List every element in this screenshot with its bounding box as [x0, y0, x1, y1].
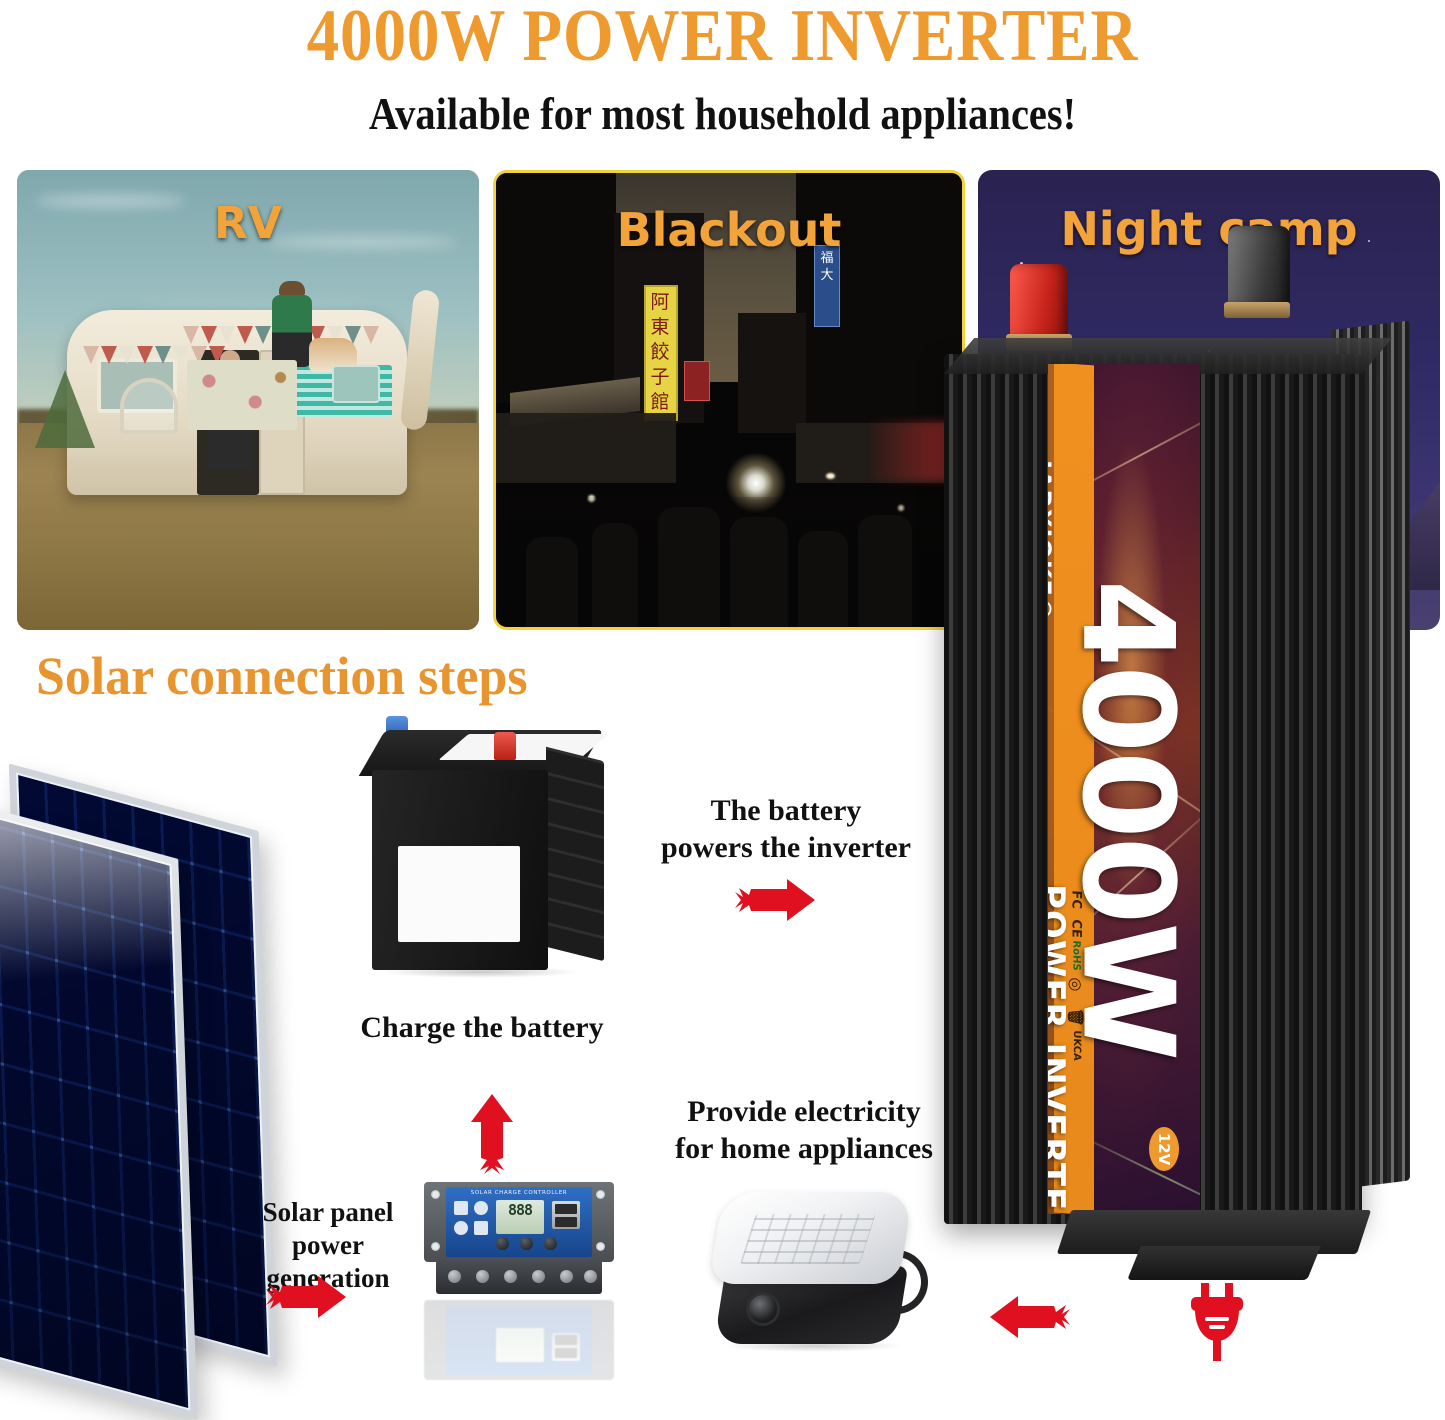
caption-provide-electricity: Provide electricityfor home appliances — [664, 1094, 944, 1167]
product-type-text: POWER INVERTER — [1048, 884, 1072, 1214]
person-silhouette — [858, 515, 912, 627]
shop-sign-yellow: 阿東餃子館 — [644, 285, 678, 421]
market-stall — [496, 413, 676, 483]
battery-label — [398, 846, 520, 942]
solar-status-icon — [474, 1201, 488, 1215]
controller-mount-plate: SOLAR CHARGE CONTROLLER 888 — [424, 1182, 614, 1262]
lock-icon — [474, 1221, 488, 1235]
photo-label-night-camp: Night camp — [978, 202, 1440, 256]
terminal-screw — [504, 1270, 517, 1283]
light-spark — [826, 473, 835, 479]
arrow-controller-to-battery — [466, 1090, 518, 1182]
solar-panels-group — [0, 800, 288, 1400]
photo-card-rv: RV — [17, 170, 479, 630]
mount-hole — [596, 1242, 605, 1251]
caption-battery-powers-inverter: The batterypowers the inverter — [646, 793, 926, 866]
cooker-lid — [709, 1192, 914, 1284]
section-title-solar-steps: Solar connection steps — [36, 645, 528, 707]
battery-shadow — [380, 966, 580, 978]
terminal-screw — [448, 1270, 461, 1283]
controller-faceplate: SOLAR CHARGE CONTROLLER 888 — [446, 1187, 592, 1257]
usb-ports[interactable] — [552, 1201, 580, 1229]
building-silhouette — [738, 313, 806, 433]
cooker-control-panel — [740, 1214, 876, 1264]
battery-side — [546, 747, 604, 961]
person-silhouette — [798, 531, 848, 627]
reflection-lcd — [496, 1328, 544, 1362]
chair — [120, 378, 178, 434]
arrow-battery-to-inverter — [727, 875, 819, 925]
cloud-shape — [137, 300, 377, 310]
rice-cooker-appliance — [706, 1188, 946, 1358]
power-inverter-product: FC CE RoHS ◎ 🗑 UKCA JARXIOKE® 4000W POWE… — [944, 330, 1414, 1250]
battery-status-icon — [454, 1201, 468, 1215]
plug-icon — [1185, 1283, 1249, 1368]
terminal-screw — [584, 1270, 597, 1283]
page-subtitle: Available for most household appliances! — [72, 88, 1373, 140]
reflection-face — [446, 1305, 592, 1375]
page-title: 4000W POWER INVERTER — [87, 0, 1359, 79]
wattage-text: 4000W — [1055, 410, 1201, 1215]
person-silhouette — [526, 537, 578, 627]
photo-label-blackout: Blackout — [496, 203, 962, 257]
mount-hole — [596, 1190, 605, 1199]
terminal-screw — [532, 1270, 545, 1283]
solar-charge-controller: SOLAR CHARGE CONTROLLER 888 — [424, 1182, 614, 1382]
solar-panel-front — [0, 791, 198, 1419]
reflection-usb — [552, 1333, 580, 1361]
lcd-display: 888 — [496, 1200, 544, 1234]
terminal-screw — [560, 1270, 573, 1283]
terminal-base — [1224, 302, 1290, 318]
arrow-inverter-to-appliance — [986, 1292, 1078, 1342]
controller-title: SOLAR CHARGE CONTROLLER — [446, 1190, 592, 1196]
mount-hole — [431, 1190, 440, 1199]
cooker-dial — [746, 1292, 780, 1326]
cooker-shadow — [724, 1340, 904, 1352]
controller-button-up[interactable] — [520, 1237, 533, 1250]
controller-button-down[interactable] — [544, 1237, 557, 1250]
battery-terminal-positive — [494, 732, 516, 760]
controller-button-menu[interactable] — [496, 1237, 509, 1250]
terminal-post-negative — [1228, 226, 1290, 306]
person-boy — [272, 295, 312, 367]
car-battery — [360, 730, 620, 1000]
person-silhouette — [592, 523, 638, 627]
photo-label-rv: RV — [17, 198, 479, 249]
battery-front — [372, 770, 548, 970]
terminal-screw — [476, 1270, 489, 1283]
decor-tree — [35, 370, 95, 448]
timer-icon — [454, 1221, 468, 1235]
shop-sign-red — [684, 361, 710, 401]
shop-sign-blue: 福大 — [814, 245, 840, 327]
controller-terminal-block — [436, 1260, 602, 1294]
cooler-box — [332, 365, 380, 403]
controller-reflection — [424, 1300, 614, 1380]
terminal-post-positive — [1010, 264, 1068, 338]
mount-hole — [431, 1242, 440, 1251]
lcd-value: 888 — [496, 1200, 544, 1220]
arrow-panel-to-controller — [258, 1272, 350, 1322]
caption-charge-the-battery: Charge the battery — [352, 1010, 612, 1047]
picnic-table — [187, 360, 297, 430]
person-silhouette — [658, 507, 720, 627]
inverter-mounting-foot — [1127, 1246, 1321, 1280]
photo-card-blackout: 阿東餃子館 福大 Blackout — [493, 170, 965, 630]
solar-cells — [0, 800, 190, 1410]
voltage-badge: 12V — [1149, 1127, 1179, 1171]
person-silhouette — [730, 517, 788, 627]
inverter-front-label: FC CE RoHS ◎ 🗑 UKCA JARXIOKE® 4000W POWE… — [1048, 364, 1200, 1214]
reflection-plate — [424, 1300, 614, 1380]
